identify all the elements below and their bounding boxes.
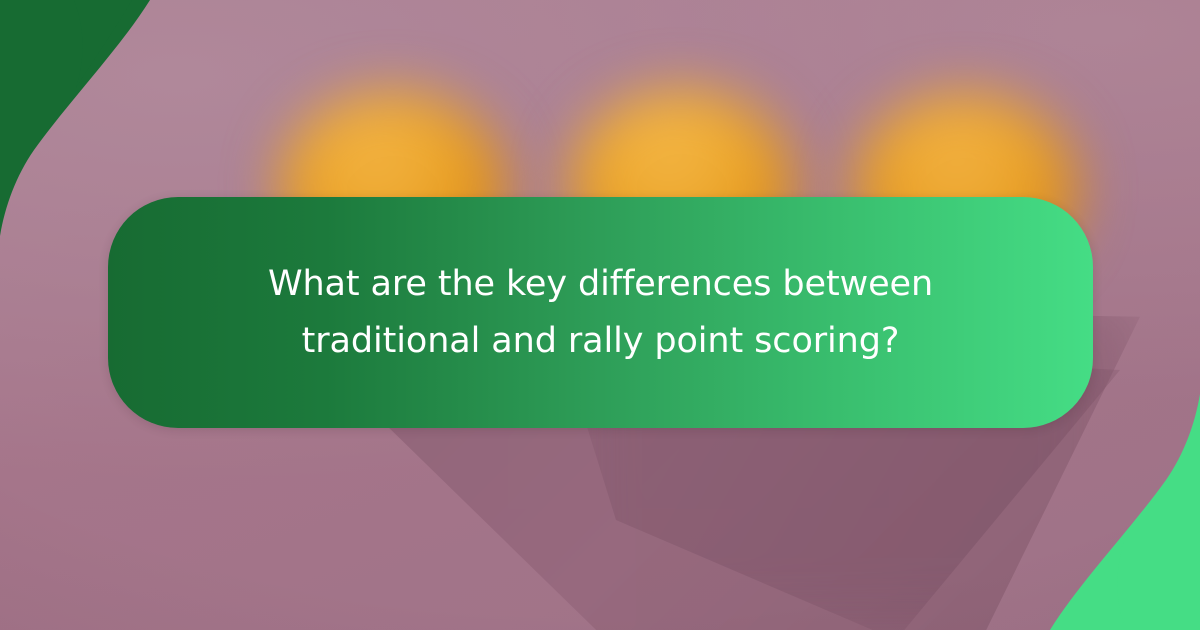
og-image-canvas: What are the key differences between tra… [0,0,1200,630]
question-card: What are the key differences between tra… [108,197,1093,428]
question-text: What are the key differences between tra… [186,256,1016,369]
